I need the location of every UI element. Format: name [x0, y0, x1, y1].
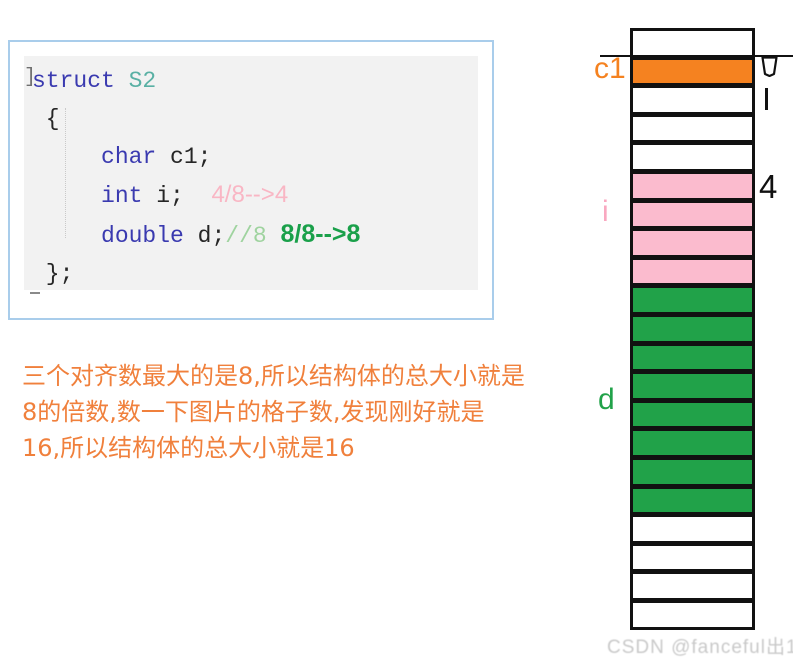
code-token: //8: [225, 223, 266, 249]
memory-cell: [630, 428, 755, 458]
memory-label-i: i: [602, 195, 609, 229]
line-open-brace: {: [32, 100, 360, 138]
line-close-brace: };: [32, 255, 360, 293]
line-struct: struct S2: [32, 62, 360, 100]
memory-cell: [630, 571, 755, 601]
csdn-watermark: CSDN @fanceful出1Z: [607, 632, 793, 659]
memory-cell: [630, 57, 755, 87]
code-token: d;: [184, 223, 225, 249]
code-token: 8/8-->8: [281, 220, 361, 248]
memory-cell: [630, 285, 755, 315]
alignment-tick-mark: [765, 88, 768, 110]
memory-cell: [630, 28, 755, 58]
line-double-d: double d;//8 8/8-->8: [32, 215, 360, 255]
code-snippet-card: ] struct S2 { char c1; int i; 4/8-->4 do…: [8, 40, 494, 320]
memory-cell: [630, 400, 755, 430]
memory-cell: [630, 514, 755, 544]
memory-cell: [630, 171, 755, 201]
code-token: int: [101, 183, 142, 209]
code-token: c1;: [156, 144, 211, 170]
explanation-line-2: 8的倍数,数一下图片的格子数,发现刚好就是: [22, 394, 662, 430]
code-surface: ] struct S2 { char c1; int i; 4/8-->4 do…: [24, 56, 478, 290]
line-int-i: int i; 4/8-->4: [32, 176, 360, 215]
explanation-text: 三个对齐数最大的是8,所以结构体的总大小就是 8的倍数,数一下图片的格子数,发现…: [22, 358, 662, 466]
memory-cell: [630, 114, 755, 144]
memory-cell: [630, 314, 755, 344]
code-token: S2: [129, 68, 157, 94]
memory-cell: [630, 85, 755, 115]
code-token: char: [101, 144, 156, 170]
memory-layout-column: [630, 28, 755, 630]
chevron-down-icon: [761, 56, 778, 77]
line-char-c1: char c1;: [32, 138, 360, 176]
code-token: {: [32, 106, 60, 132]
code-token: };: [32, 261, 73, 287]
code-token: [267, 223, 281, 249]
code-token: double: [101, 223, 184, 249]
memory-cell: [630, 200, 755, 230]
memory-cell: [630, 371, 755, 401]
code-token: [32, 183, 101, 209]
code-token: i;: [142, 183, 211, 209]
explanation-line-3: 16,所以结构体的总大小就是16: [22, 430, 662, 466]
memory-cell: [630, 457, 755, 487]
explanation-line-1: 三个对齐数最大的是8,所以结构体的总大小就是: [22, 358, 662, 394]
memory-cell: [630, 543, 755, 573]
memory-label-c1: c1: [594, 52, 626, 86]
alignment-size-label: 4: [759, 168, 777, 206]
code-token: [32, 144, 101, 170]
memory-cell: [630, 486, 755, 516]
code-lines: struct S2 { char c1; int i; 4/8-->4 doub…: [32, 62, 360, 293]
code-token: [32, 223, 101, 249]
code-token: 4/8-->4: [211, 181, 288, 208]
memory-cell: [630, 228, 755, 258]
memory-label-d: d: [598, 383, 615, 417]
memory-cell: [630, 142, 755, 172]
memory-cell: [630, 343, 755, 373]
memory-cell: [630, 600, 755, 630]
code-token: struct: [32, 68, 129, 94]
memory-cell: [630, 257, 755, 287]
